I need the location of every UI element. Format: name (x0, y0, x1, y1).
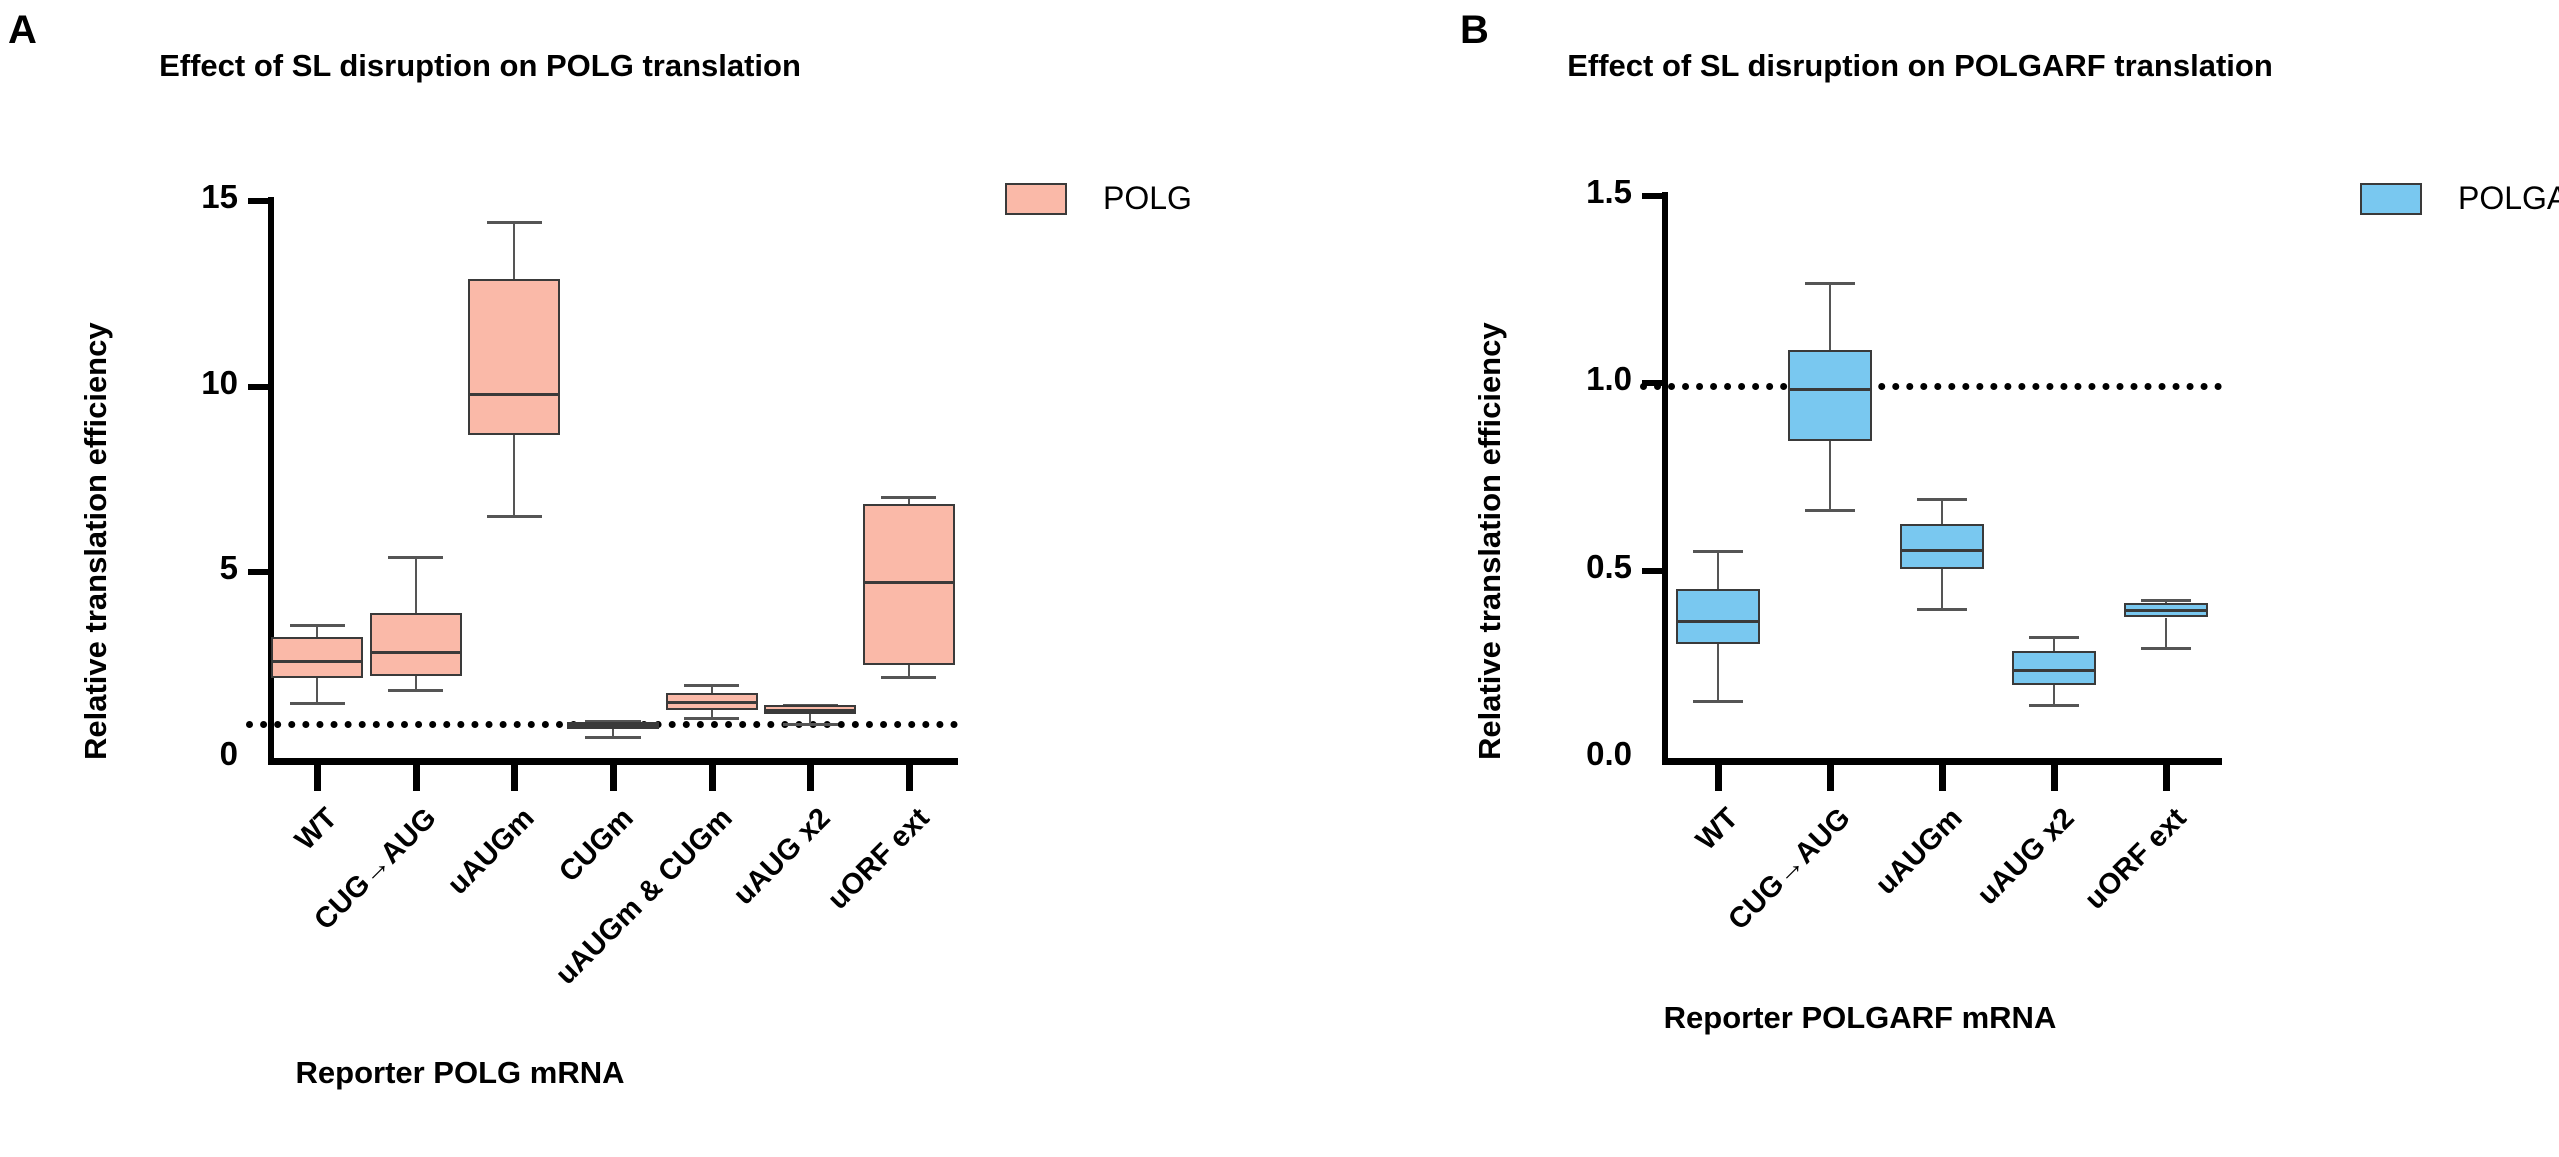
whisker-cap-upper (881, 496, 936, 499)
whisker-lower (2165, 618, 2167, 648)
figure-root: A Effect of SL disruption on POLG transl… (0, 0, 2559, 1157)
panel-a: A Effect of SL disruption on POLG transl… (0, 0, 1400, 1157)
panel-b-plot-area: 0.00.51.01.5WTCUG→AUGuAUGmuAUG x2uORF ex… (1400, 0, 2559, 1157)
box-median-line (2124, 609, 2208, 612)
legend-swatch-polg (1005, 183, 1067, 215)
legend-swatch-polgarf (2360, 183, 2422, 215)
panel-a-plot-area: 051015WTCUG→AUGuAUGmCUGmuAUGm & CUGmuAUG… (0, 0, 1400, 1157)
whisker-cap-lower (2141, 647, 2191, 650)
legend-label-polg: POLG (1103, 180, 1192, 217)
whisker-cap-lower (881, 676, 936, 679)
box-plot-group (0, 0, 1400, 1157)
whisker-cap-upper (2141, 599, 2191, 602)
box-plot-group (1400, 0, 2559, 1157)
legend-label-polgarf: POLGARF (2458, 180, 2559, 217)
panel-a-legend: POLG (1005, 180, 1192, 217)
whisker-lower (908, 665, 910, 676)
panel-b-legend: POLGARF (2360, 180, 2559, 217)
panel-b: B Effect of SL disruption on POLGARF tra… (1400, 0, 2559, 1157)
box-median-line (863, 581, 955, 584)
box-iqr (863, 504, 955, 666)
